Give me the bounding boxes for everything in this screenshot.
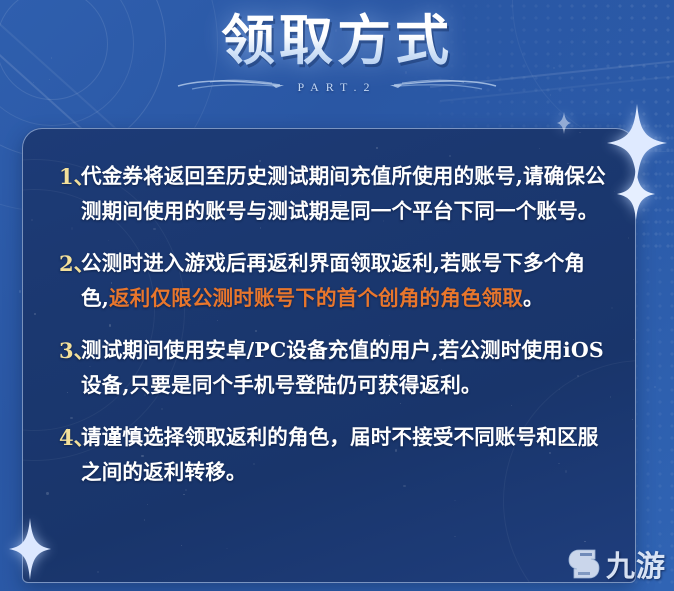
- rule-number: 3、: [41, 333, 81, 368]
- rule-text-segment: 。: [523, 286, 544, 310]
- promo-banner: 领取方式 PART.2: [0, 0, 674, 591]
- speck: [144, 519, 145, 520]
- rule-text: 请谨慎选择领取返利的角色，届时不接受不同账号和区服之间的返利转移。: [81, 420, 607, 490]
- title-subrow: PART.2: [0, 77, 674, 98]
- rule-number: 4、: [41, 420, 81, 455]
- rule-text-segment: 请谨慎选择领取返利的角色，届时不接受不同账号和区服之间的返利转移。: [81, 425, 599, 484]
- speck: [454, 536, 455, 537]
- rule-text-highlight: 返利仅限公测时账号下的首个创角的角色领取: [109, 286, 523, 310]
- speck: [19, 290, 21, 292]
- rule-text: 测试期间使用安卓/PC设备充值的用户,若公测时使用iOS设备,只要是同个手机号登…: [81, 333, 607, 403]
- decorative-diagonal-line: [440, 75, 674, 102]
- speck: [654, 386, 656, 388]
- rules-list: 1、代金券将返回至历史测试期间充值所使用的账号,请确保公测期间使用的账号与测试期…: [23, 129, 635, 490]
- rule-text: 代金券将返回至历史测试期间充值所使用的账号,请确保公测期间使用的账号与测试期是同…: [81, 159, 607, 229]
- rule-number: 1、: [41, 159, 81, 194]
- decorative-ring: [0, 0, 108, 100]
- speck: [553, 67, 554, 68]
- rule-item: 1、代金券将返回至历史测试期间充值所使用的账号,请确保公测期间使用的账号与测试期…: [41, 159, 607, 229]
- rule-item: 2、公测时进入游戏后再返利界面领取返利,若账号下多个角色,返利仅限公测时账号下的…: [41, 246, 607, 316]
- speck: [49, 79, 50, 80]
- speck: [51, 57, 52, 58]
- speck: [97, 571, 98, 572]
- rule-text-segment: 代金券将返回至历史测试期间充值所使用的账号,请确保公测期间使用的账号与测试期是同…: [81, 164, 606, 223]
- rule-item: 3、测试期间使用安卓/PC设备充值的用户,若公测时使用iOS设备,只要是同个手机…: [41, 333, 607, 403]
- ornament-swoosh-left-icon: [176, 77, 286, 98]
- rule-item: 4、请谨慎选择领取返利的角色，届时不接受不同账号和区服之间的返利转移。: [41, 420, 607, 490]
- watermark-text: 九游: [606, 543, 666, 585]
- speck: [550, 94, 551, 95]
- ornament-swoosh-right-icon: [388, 77, 498, 98]
- speck: [147, 504, 148, 505]
- speck: [405, 71, 407, 73]
- rule-text: 公测时进入游戏后再返利界面领取返利,若账号下多个角色,返利仅限公测时账号下的首个…: [81, 246, 607, 316]
- watermark: 九游: [568, 543, 666, 585]
- rule-text-segment: 测试期间使用安卓/PC设备充值的用户,若公测时使用iOS设备,只要是同个手机号登…: [81, 338, 604, 397]
- speck: [183, 494, 184, 495]
- speck: [584, 541, 585, 542]
- page-title: 领取方式: [0, 8, 674, 73]
- speck: [33, 82, 34, 83]
- speck: [181, 545, 182, 546]
- decorative-diagonal-line: [430, 55, 674, 88]
- rule-number: 2、: [41, 246, 81, 281]
- speck: [335, 29, 337, 31]
- rules-card: 1、代金券将返回至历史测试期间充值所使用的账号,请确保公测期间使用的账号与测试期…: [22, 128, 636, 583]
- title-block: 领取方式 PART.2: [0, 8, 674, 98]
- part-label: PART.2: [298, 80, 377, 95]
- speck: [46, 492, 48, 494]
- decorative-ring: [0, 0, 134, 126]
- jiuyou-logo-icon: [568, 548, 602, 580]
